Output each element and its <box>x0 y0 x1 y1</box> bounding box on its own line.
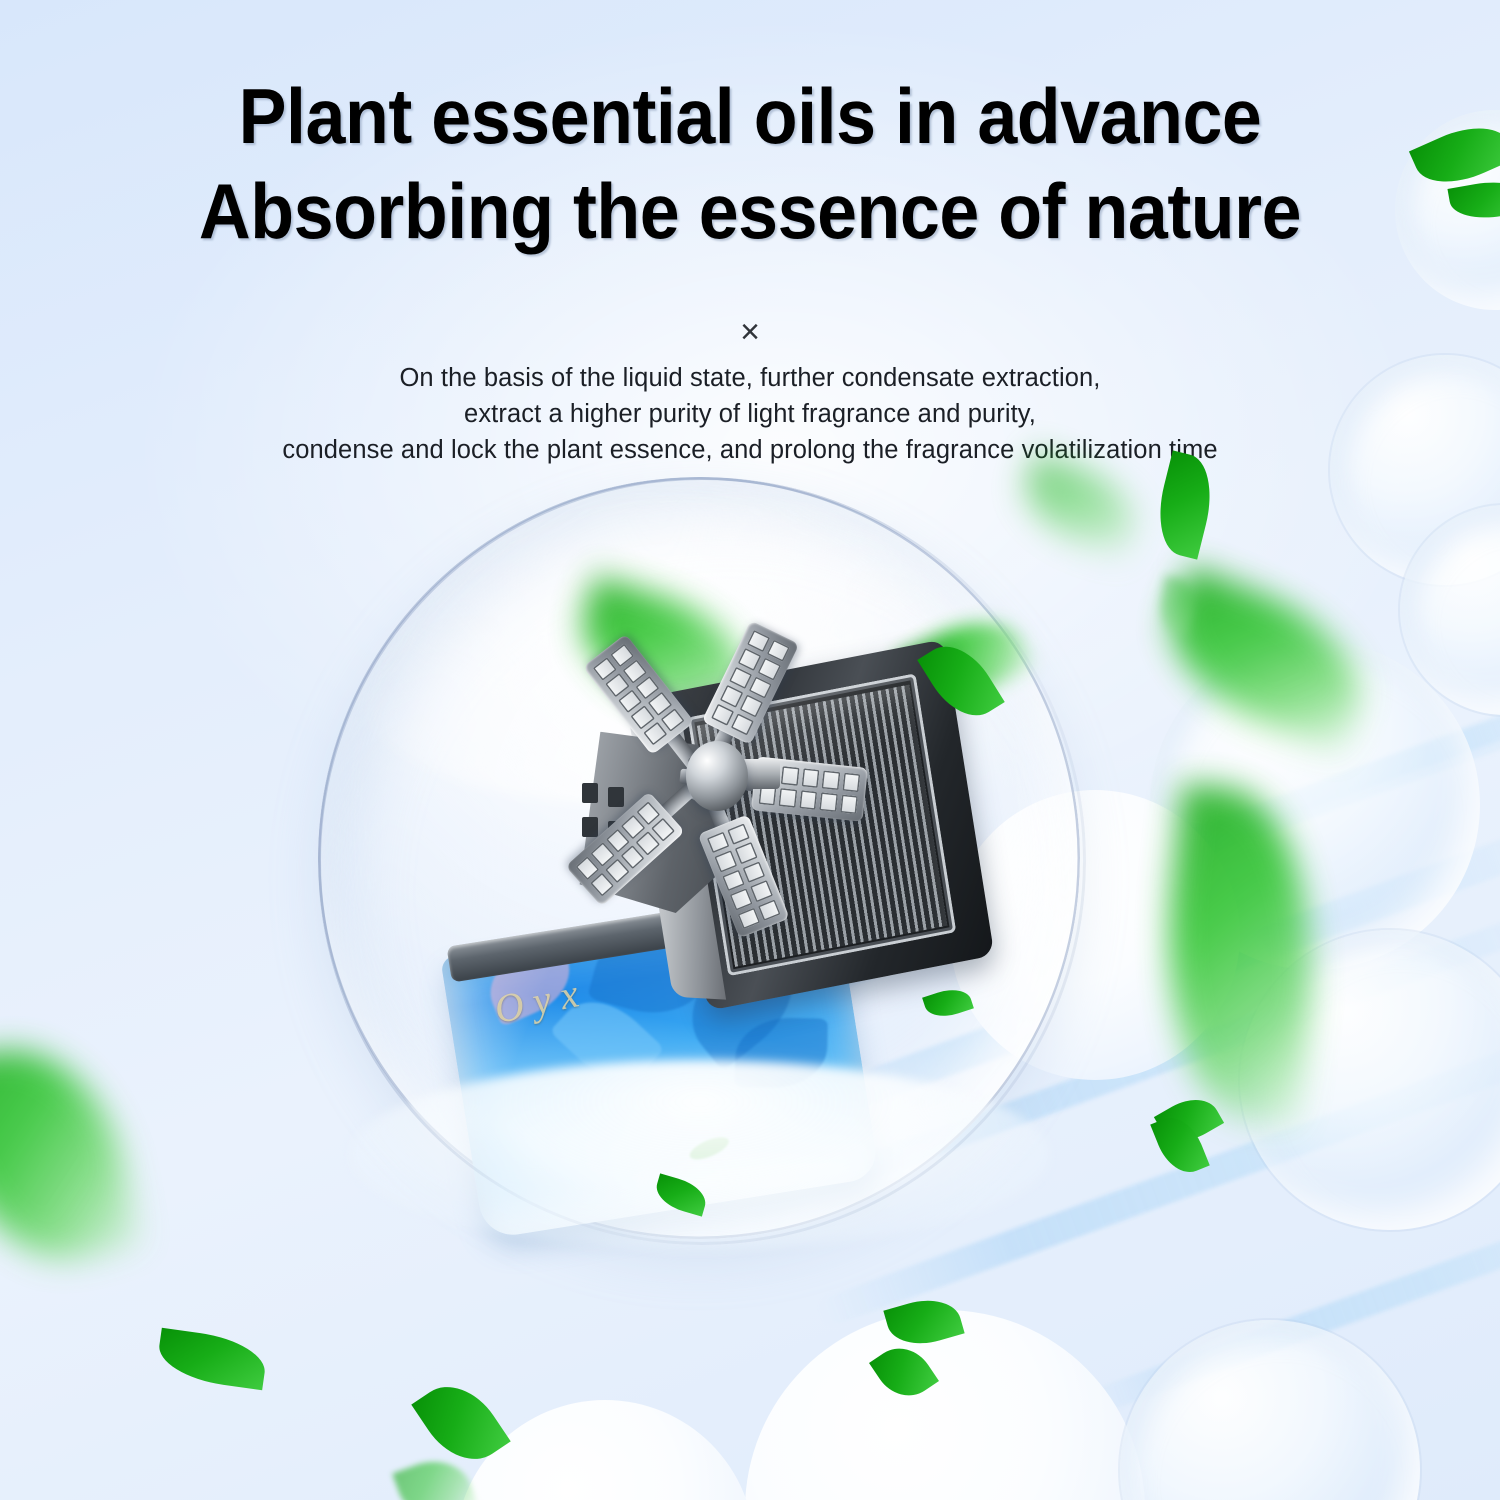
blade-slot <box>749 676 772 699</box>
blade-slot <box>819 792 837 812</box>
blade-slot <box>729 667 752 690</box>
bubble-rim <box>318 477 1086 1245</box>
description-line-2: extract a higher purity of light fragran… <box>0 396 1500 432</box>
blade-slot <box>742 861 765 883</box>
blade-slot <box>735 842 758 864</box>
blade-slot <box>801 768 819 788</box>
blade-slot <box>720 685 743 708</box>
headline-line-1: Plant essential oils in advance <box>60 77 1440 155</box>
blade-slot <box>660 708 684 732</box>
blade-slot <box>730 888 753 910</box>
blade-slot <box>738 648 761 671</box>
blade-slot <box>767 640 790 663</box>
description-block: On the basis of the liquid state, furthe… <box>0 360 1500 469</box>
blade-slot <box>750 880 773 902</box>
blade-slot <box>799 790 817 810</box>
leaf <box>155 1328 269 1391</box>
blade-slot <box>731 713 754 736</box>
blade-slot <box>722 869 745 891</box>
leaf-blurred <box>0 1031 141 1279</box>
rotor-hub <box>686 741 748 811</box>
promo-banner: Plant essential oils in advance Absorbin… <box>0 0 1500 1500</box>
blade-slot <box>758 899 781 921</box>
background-bubble <box>455 1400 755 1500</box>
blade-slot <box>840 794 858 814</box>
description-line-1: On the basis of the liquid state, furthe… <box>0 360 1500 396</box>
description-line-3: condense and lock the plant essence, and… <box>0 432 1500 468</box>
blade-slot <box>737 907 760 929</box>
blade-slot <box>707 832 730 854</box>
blade-slot <box>758 658 781 681</box>
divider-x-icon: × <box>0 315 1500 349</box>
blade-slot <box>714 851 737 873</box>
blade-slot <box>781 766 799 786</box>
background-bubble <box>1120 1320 1420 1500</box>
blade-slot <box>727 823 750 845</box>
blade-slot <box>842 773 860 793</box>
blade-slot <box>643 721 667 745</box>
blade-slot <box>822 770 840 790</box>
blade-slot <box>711 703 734 726</box>
blade-slot <box>740 695 763 718</box>
blade-slot <box>747 630 770 653</box>
headline-line-2: Absorbing the essence of nature <box>60 172 1440 250</box>
blade-slot <box>779 788 797 808</box>
